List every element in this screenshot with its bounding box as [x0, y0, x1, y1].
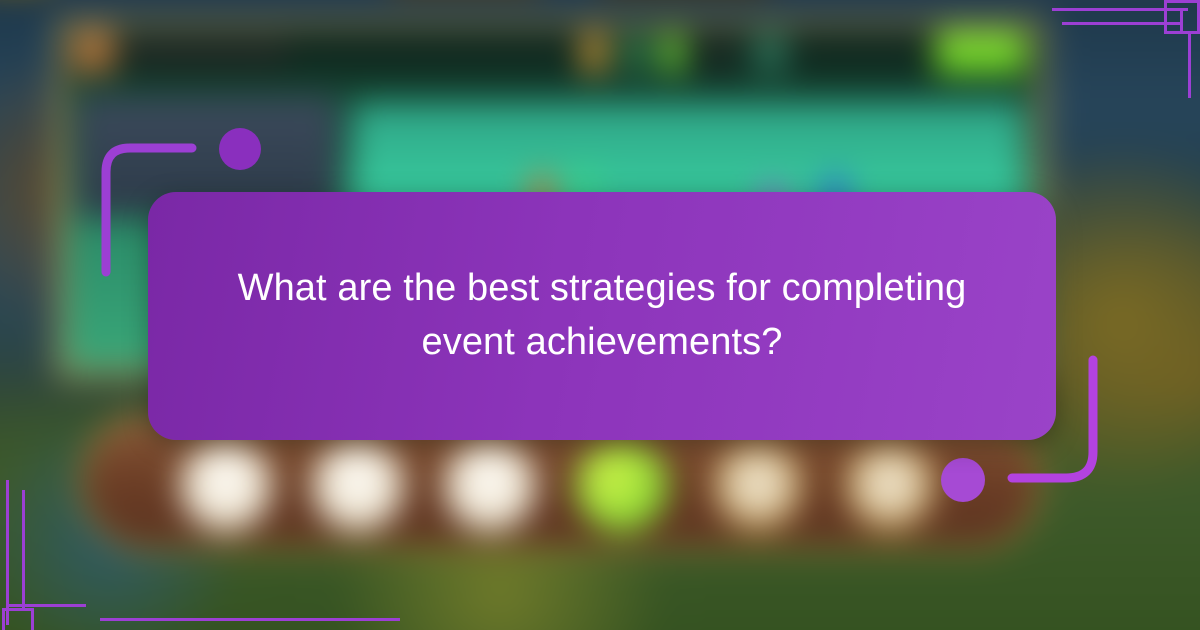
- inventory-slot: [576, 440, 668, 532]
- player-name-box: [123, 35, 288, 71]
- game-panel-header: [63, 25, 1039, 81]
- bottom-left-bracket-line: [100, 618, 400, 621]
- top-right-bracket-line: [1188, 34, 1191, 98]
- inventory-slot: [312, 440, 404, 532]
- top-right-bracket-line: [1062, 22, 1180, 25]
- top-left-connector-dot: [219, 128, 261, 170]
- inventory-slot: [444, 440, 536, 532]
- panel-hud-item: [703, 33, 731, 73]
- bottom-left-bracket-box: [2, 608, 34, 630]
- panel-hud-item: [663, 33, 683, 73]
- screenshot-stage: What are the best strategies for complet…: [0, 0, 1200, 630]
- bottom-right-connector-dot: [941, 458, 985, 502]
- bottom-left-bracket-line: [6, 604, 86, 607]
- panel-hud-item: [583, 33, 605, 73]
- panel-hud-item: [753, 33, 787, 73]
- panel-green-button: [935, 31, 1027, 75]
- top-right-bracket-box: [1164, 0, 1200, 34]
- inventory-slot: [712, 440, 804, 532]
- panel-hud-item: [623, 33, 649, 73]
- player-avatar: [73, 31, 115, 75]
- inventory-slot: [844, 440, 936, 532]
- bottom-left-bracket-line: [22, 490, 25, 610]
- inventory-slot: [180, 440, 272, 532]
- question-card[interactable]: What are the best strategies for complet…: [148, 192, 1056, 440]
- question-text: What are the best strategies for complet…: [232, 262, 972, 370]
